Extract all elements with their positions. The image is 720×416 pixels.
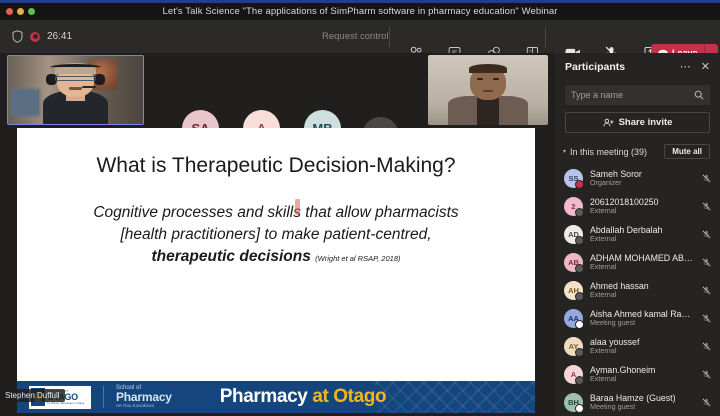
shield-icon [12,30,23,43]
avatar-wrapper: AY [564,337,583,356]
avatar-wrapper: AA [564,309,583,328]
participant-row[interactable]: SS Sameh Soror Organizer [555,164,720,192]
presenter-video-feed [8,56,143,124]
participants-list[interactable]: SS Sameh Soror Organizer [555,164,720,416]
participant-row[interactable]: AY alaa youssef External [555,332,720,360]
participants-search[interactable] [565,85,710,105]
participant-role: Meeting guest [590,319,694,327]
footer-divider [103,386,104,408]
presence-badge [575,208,584,217]
person-shirt [477,97,499,125]
avatar-wrapper: A [564,365,583,384]
slide-body-bold: therapeutic decisions [152,248,311,265]
participant-role: External [590,263,694,271]
participant-role: External [590,235,694,243]
avatar-wrapper: SS [564,169,583,188]
meeting-timer: 26:41 [47,31,72,42]
person-eye-left [477,78,483,80]
recording-indicator-icon [30,32,40,42]
school-line-3: He Rau Kawakawa [116,404,172,409]
presence-badge [575,292,584,301]
participant-role: External [590,375,694,383]
presence-badge [575,180,584,189]
slide-citation: (Wright et al RSAP, 2018) [315,254,400,263]
chevron-down-icon: ▾ [563,148,566,155]
mic-muted-icon[interactable] [701,314,712,323]
participant-row[interactable]: A Ayman.Ghoneim External [555,360,720,388]
mic-muted-icon[interactable] [701,258,712,267]
mic-muted-icon[interactable] [701,174,712,183]
presence-badge [575,376,584,385]
avatar-wrapper: AH [564,281,583,300]
presenter-name-label: Stephen Duffull [0,389,65,402]
presence-badge [575,320,584,329]
participants-panel: Participants ⋯ ✕ [555,53,720,416]
toolbar-divider [389,27,390,47]
mic-muted-icon[interactable] [701,398,712,407]
meeting-toolbar: 26:41 Request control People [0,20,720,53]
teams-meeting-window: Let's Talk Science "The applications of … [0,0,720,416]
participant-info: alaa youssef External [590,337,694,355]
section-label: In this meeting (39) [570,147,647,157]
slide-body: Cognitive processes and skills that allo… [51,202,501,268]
participant-info: Aisha Ahmed kamal Ramadan Al... Meeting … [590,309,694,327]
participant-row[interactable]: AH Ahmed hassan External [555,276,720,304]
mic-muted-icon[interactable] [701,370,712,379]
video-thumbnail-strip: SA Samar Abd... A [0,53,555,127]
search-icon[interactable] [694,90,704,100]
participant-row[interactable]: AD Abdallah Derbalah External [555,220,720,248]
mic-muted-icon[interactable] [701,342,712,351]
participant-role: External [590,291,694,299]
participant-info: Ayman.Ghoneim External [590,365,694,383]
request-control-button[interactable]: Request control [322,31,389,42]
headset-earcup-right [94,74,105,85]
slide-body-line-1: Cognitive processes and skills that allo… [93,204,458,221]
mute-all-button[interactable]: Mute all [664,144,710,159]
participants-panel-header: Participants ⋯ ✕ [555,53,720,81]
laser-pointer-cursor [295,199,300,215]
more-ellipsis-icon[interactable]: ⋯ [680,62,691,73]
participant-info: Abdallah Derbalah External [590,225,694,243]
slide-title: What is Therapeutic Decision-Making? [17,154,535,178]
share-invite-button[interactable]: Share invite [565,112,710,133]
mic-muted-icon[interactable] [701,286,712,295]
participant-role: Meeting guest [590,403,694,411]
participant-role: Organizer [590,179,694,187]
participant-info: ADHAM MOHAMED ABDELHA... External [590,253,694,271]
slide-body-line-2: [health practitioners] to make patient-c… [120,226,431,243]
shared-screen-slide[interactable]: What is Therapeutic Decision-Making? Cog… [17,128,535,413]
footer-headline-white: Pharmacy [220,386,308,407]
participant-video-feed [428,55,548,125]
participant-row[interactable]: AA Aisha Ahmed kamal Ramadan Al... Meeti… [555,304,720,332]
in-this-meeting-row: ▾ In this meeting (39) Mute all [555,133,720,164]
search-input[interactable] [571,90,691,100]
participant-role: External [590,347,694,355]
avatar-wrapper: AB [564,253,583,272]
headset-band [50,64,101,71]
presence-badge [575,348,584,357]
presence-badge [575,404,584,413]
toolbar-left-group: 26:41 [0,30,72,43]
window-titlebar: Let's Talk Science "The applications of … [0,3,720,20]
mic-muted-icon[interactable] [701,202,712,211]
avatar-wrapper: BH [564,393,583,412]
otago-logo-bottom: Te Whare Wananga o Otago [47,402,85,405]
mic-muted-icon[interactable] [701,230,712,239]
presence-badge [575,264,584,273]
panel-title: Participants [565,61,625,73]
panel-header-actions: ⋯ ✕ [680,62,710,73]
person-eye-right [493,78,499,80]
video-tile-active-speaker[interactable] [7,55,144,125]
participant-info: 20612018100250 External [590,197,694,215]
background-decor [11,89,41,116]
participant-role: External [590,207,694,215]
footer-watermark-pattern [375,381,535,413]
participant-info: Ahmed hassan External [590,281,694,299]
avatar-wrapper: 2 [564,197,583,216]
person-mouth [483,90,493,92]
window-title: Let's Talk Science "The applications of … [0,6,720,17]
eyeglasses [55,76,96,81]
video-tile-participant[interactable] [428,55,548,125]
close-icon[interactable]: ✕ [701,62,710,73]
participants-search-wrapper [555,81,720,105]
participant-info: Sameh Soror Organizer [590,169,694,187]
person-mouth [69,87,83,90]
share-invite-label: Share invite [619,117,673,128]
presence-badge [575,236,584,245]
footer-headline: Pharmacy at Otago [220,386,386,408]
share-invite-icon [603,118,614,128]
section-header[interactable]: ▾ In this meeting (39) [563,147,647,157]
slide-footer-banner: UNIVERSITY OTAGO Te Whare Wananga o Otag… [17,381,535,413]
avatar-wrapper: AD [564,225,583,244]
share-invite-wrapper: Share invite [555,105,720,133]
participant-row[interactable]: AB ADHAM MOHAMED ABDELHA... External [555,248,720,276]
school-of-pharmacy-block: School of Pharmacy He Rau Kawakawa [116,385,172,409]
participant-info: Baraa Hamze (Guest) Meeting guest [590,393,694,411]
participant-row[interactable]: BH Baraa Hamze (Guest) Meeting guest [555,388,720,416]
person-hair [469,64,507,73]
participant-row[interactable]: 2 20612018100250 External [555,192,720,220]
